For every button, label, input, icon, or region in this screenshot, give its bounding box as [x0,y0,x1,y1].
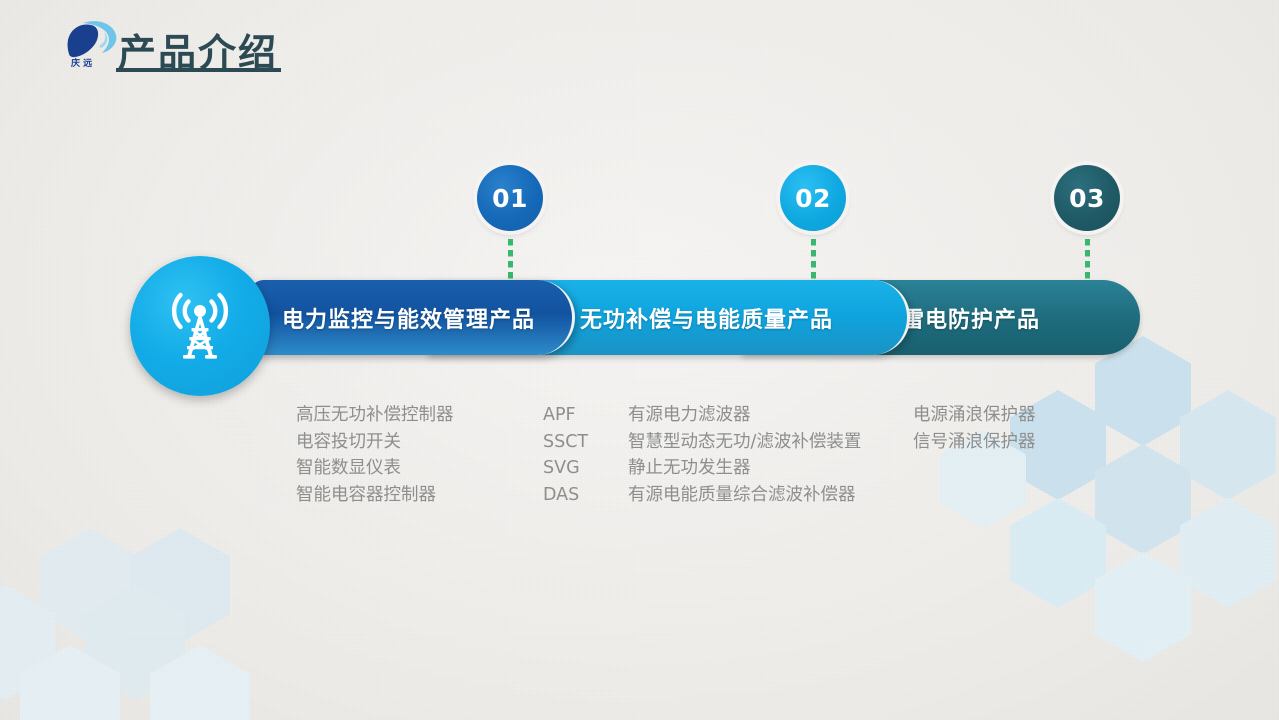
step-number-01: 01 [492,184,528,213]
hexagon-shape [0,585,55,700]
step-number-02: 02 [795,184,831,213]
step-bubble-03[interactable]: 03 [1054,165,1120,231]
connector-line-03 [1085,228,1090,284]
product-list-column-2: APF 有源电力滤波器 SSCT 智慧型动态无功/滤波补偿装置 SVG 静止无功… [543,402,861,508]
list-item: 电源涌浪保护器 [913,402,1036,429]
logo-text: 庆 远 [70,57,93,68]
list-item: 信号涌浪保护器 [913,429,1036,456]
company-swoosh-logo: 庆 远 [57,16,119,68]
connector-line-01 [508,228,513,284]
hexagon-shape [1180,390,1276,500]
list-item: 高压无功补偿控制器 [296,402,454,429]
step-bubble-01[interactable]: 01 [477,165,543,231]
hexagon-shape [150,645,250,720]
hexagon-shape [1010,498,1106,608]
slide-canvas: 庆 远 产品介绍 01 02 03 雷电防护产品 无功补偿与电能质量产品 电力监… [0,0,1279,720]
ribbon-segment-2-label: 无功补偿与电能质量产品 [580,302,833,334]
product-abbr: APF [543,402,628,429]
product-abbr: SSCT [543,429,628,456]
list-item: 智能电容器控制器 [296,482,454,509]
hexagon-shape [1095,444,1191,554]
ribbon-segment-3-label: 雷电防护产品 [902,302,1040,334]
hexagon-shape [20,645,120,720]
product-desc: 有源电能质量综合滤波补偿器 [628,482,856,509]
slide-header: 庆 远 产品介绍 [0,0,1279,95]
title-underline [116,68,281,72]
product-list-column-3: 电源涌浪保护器 信号涌浪保护器 [913,402,1036,455]
product-desc: 智慧型动态无功/滤波补偿装置 [628,429,861,456]
list-item: 智能数显仪表 [296,455,454,482]
hexagon-shape [1180,498,1276,608]
product-category-ribbon: 雷电防护产品 无功补偿与电能质量产品 电力监控与能效管理产品 [130,280,1140,355]
product-desc: 静止无功发生器 [628,455,751,482]
ribbon-segment-1-label: 电力监控与能效管理产品 [282,302,535,334]
list-item: SVG 静止无功发生器 [543,455,861,482]
ribbon-segment-power-monitoring[interactable]: 电力监控与能效管理产品 [250,280,575,355]
step-bubble-02[interactable]: 02 [780,165,846,231]
product-desc: 有源电力滤波器 [628,402,751,429]
product-abbr: DAS [543,482,628,509]
connector-line-02 [811,228,816,284]
hexagon-shape [85,585,185,700]
list-item: 电容投切开关 [296,429,454,456]
hexagon-shape [40,528,140,643]
hexagon-shape [1095,552,1191,662]
list-item: SSCT 智慧型动态无功/滤波补偿装置 [543,429,861,456]
product-abbr: SVG [543,455,628,482]
list-item: APF 有源电力滤波器 [543,402,861,429]
list-item: DAS 有源电能质量综合滤波补偿器 [543,482,861,509]
product-list-column-1: 高压无功补偿控制器 电容投切开关 智能数显仪表 智能电容器控制器 [296,402,454,508]
step-number-03: 03 [1069,184,1105,213]
broadcast-tower-icon [130,256,270,396]
hexagon-shape [130,528,230,643]
